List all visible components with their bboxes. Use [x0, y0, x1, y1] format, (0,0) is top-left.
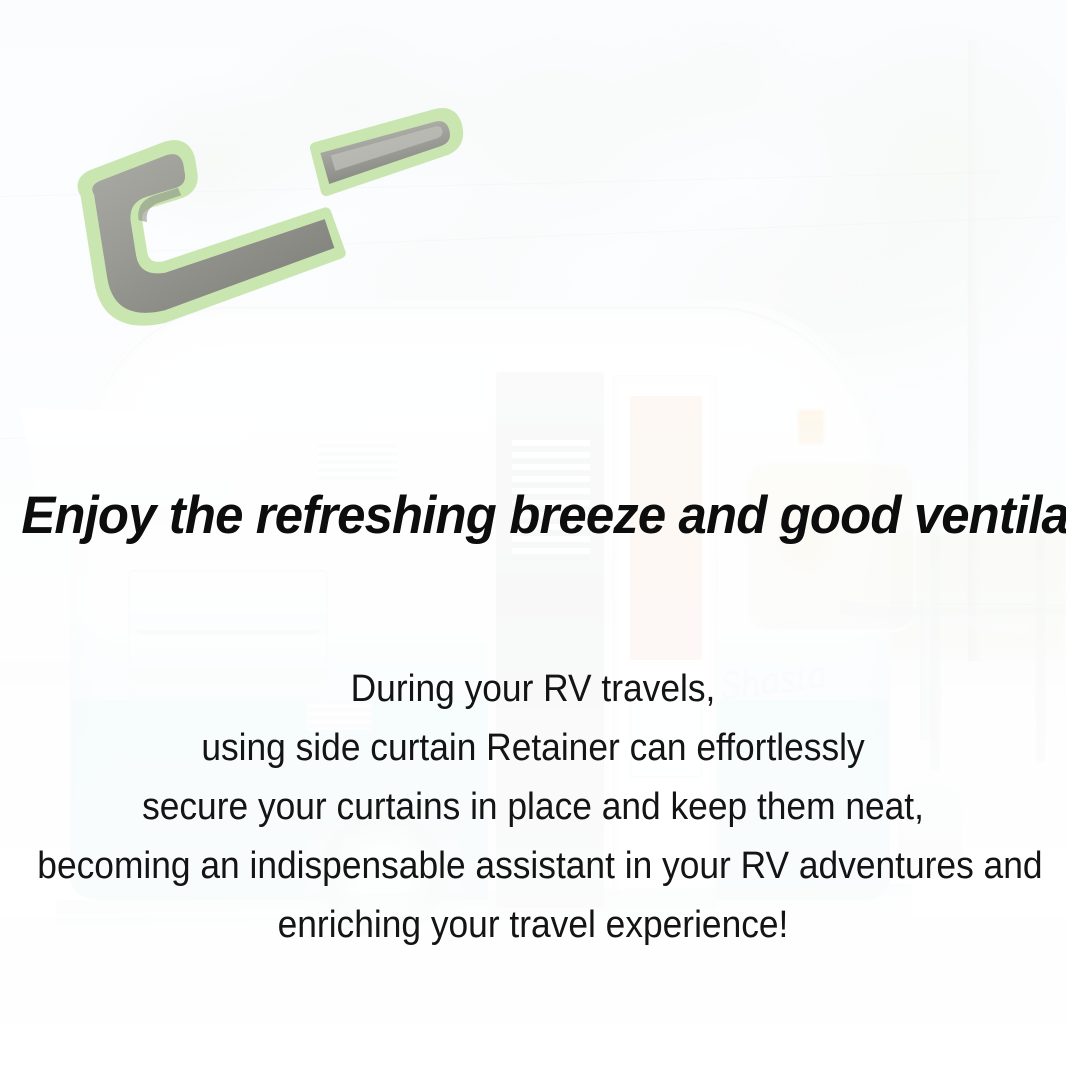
product-banner: Shasta	[0, 0, 1066, 1066]
body-line-2: using side curtain Retainer can effortle…	[37, 719, 1028, 778]
body-line-5: enriching your travel experience!	[37, 896, 1028, 955]
body-copy: During your RV travels, using side curta…	[37, 660, 1028, 955]
trailer-badge	[798, 410, 824, 444]
fence-post	[1036, 512, 1045, 762]
vent-grille	[318, 444, 398, 480]
curtain-retainer-clip-image	[58, 104, 478, 334]
body-line-4: becoming an indispensable assistant in y…	[37, 837, 1028, 896]
body-line-1: During your RV travels,	[37, 660, 1028, 719]
headline: Enjoy the refreshing breeze and good ven…	[21, 486, 1044, 546]
body-line-3: secure your curtains in place and keep t…	[37, 778, 1028, 837]
curtain-retainer-icon	[58, 104, 478, 334]
fence-rail	[880, 608, 1066, 615]
